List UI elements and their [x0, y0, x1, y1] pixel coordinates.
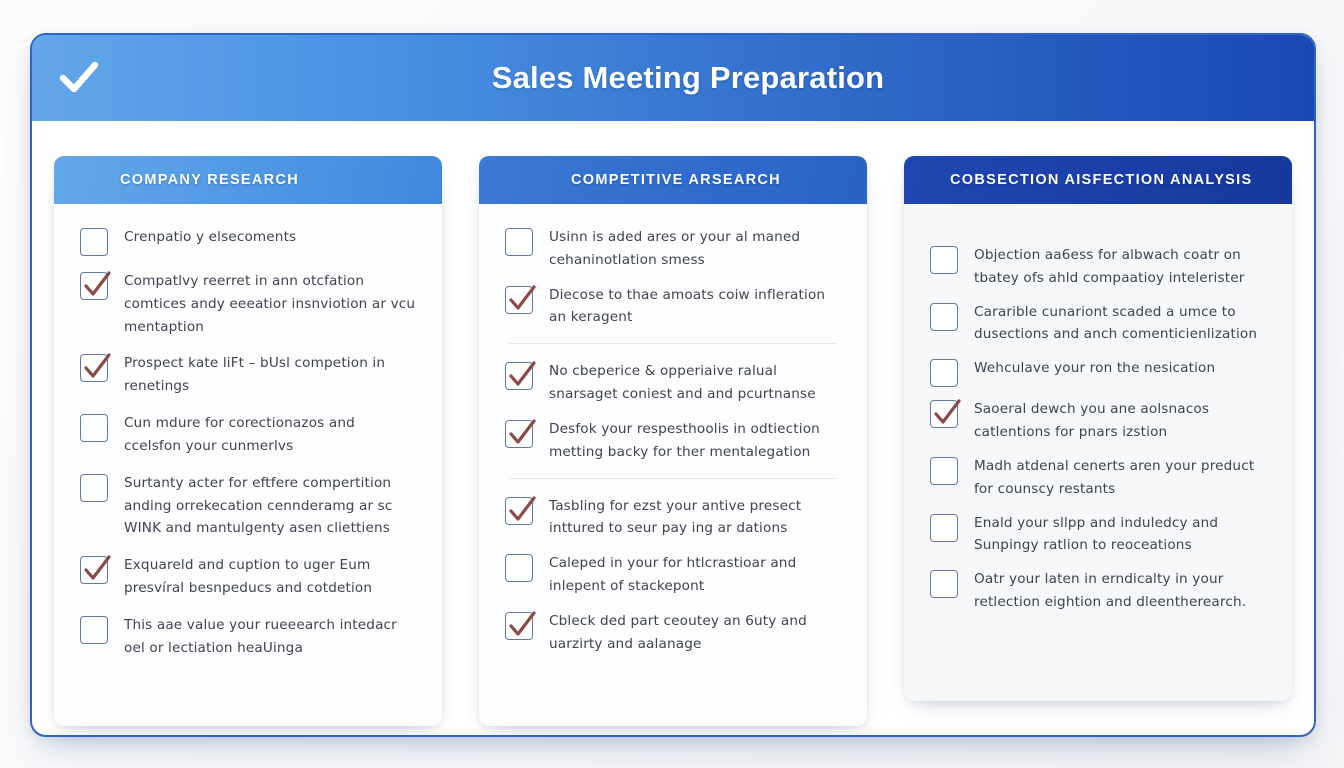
checklist-item[interactable]: Enald your sllpp and induledcy and Sunpi… — [930, 512, 1266, 558]
checklist-item[interactable]: No cbeperice & opperiaive ralual snarsag… — [505, 360, 841, 406]
checkbox-unchecked[interactable] — [80, 414, 108, 442]
checkbox-unchecked[interactable] — [80, 228, 108, 256]
checklist-item[interactable]: Saoeral dewch you ane aolsnacos catlenti… — [930, 398, 1266, 444]
checkmark-icon — [503, 492, 539, 528]
checkbox-checked[interactable] — [505, 286, 533, 314]
checkbox-unchecked[interactable] — [930, 359, 958, 387]
checklist-item[interactable]: Madh atdenal cenerts aren your preduct f… — [930, 455, 1266, 501]
board-header: Sales Meeting Preparation — [32, 35, 1314, 121]
checklist-item-label: Oatr your laten in erndicalty in your re… — [974, 568, 1266, 614]
checklist-item-label: Cbleck ded part ceoutey an 6uty and uarz… — [549, 610, 841, 656]
checklist-column-cobsection-aisfection-analysis: COBSECTION AISFECTION ANALYSISObjection … — [904, 156, 1292, 701]
checklist-item-label: Saoeral dewch you ane aolsnacos catlenti… — [974, 398, 1266, 444]
item-divider — [509, 343, 837, 344]
checklist-item[interactable]: Surtanty acter for eftfere compertition … — [80, 472, 416, 540]
page-title: Sales Meeting Preparation — [102, 60, 1314, 96]
checklist-item[interactable]: Diecose to thae amoats coiw infleration … — [505, 284, 841, 330]
checkbox-unchecked[interactable] — [80, 474, 108, 502]
checklist-item[interactable]: Cun mdure for corectionazos and ccelsfon… — [80, 412, 416, 458]
checklist-item-label: Desfok your respesthoolis in odtiection … — [549, 418, 841, 464]
checklist-column-competitive-arsearch: COMPETITIVE ARSEARCHUsinn is aded ares o… — [479, 156, 867, 726]
checklist-item-label: Caleped in your for htlcrastioar and inl… — [549, 552, 841, 598]
checklist-item-label: Prospect kate liFt – bUsl competion in r… — [124, 352, 416, 398]
checklist-item[interactable]: Tasbling for ezst your antive presect in… — [505, 495, 841, 541]
checklist-item[interactable]: Desfok your respesthoolis in odtiection … — [505, 418, 841, 464]
checkbox-checked[interactable] — [505, 362, 533, 390]
checklist-item-label: Compatlvy reerret in ann otcfation comti… — [124, 270, 416, 338]
checkbox-unchecked[interactable] — [930, 303, 958, 331]
checkbox-unchecked[interactable] — [930, 457, 958, 485]
item-divider — [509, 478, 837, 479]
checklist-item-label: Cun mdure for corectionazos and ccelsfon… — [124, 412, 416, 458]
checkmark-icon — [503, 607, 539, 643]
checklist-item-label: No cbeperice & opperiaive ralual snarsag… — [549, 360, 841, 406]
checklist-item[interactable]: Compatlvy reerret in ann otcfation comti… — [80, 270, 416, 338]
checklist-item[interactable]: Crenpatio y elsecoments — [80, 226, 416, 256]
checklist-item-label: Wehculave your ron the nesication — [974, 357, 1215, 380]
checklist-item[interactable]: Cararible cunariont scaded a umce to dus… — [930, 301, 1266, 347]
checkmark-icon — [928, 395, 964, 431]
checklist-item[interactable]: Prospect kate liFt – bUsl competion in r… — [80, 352, 416, 398]
checklist-item-label: Crenpatio y elsecoments — [124, 226, 296, 249]
checklist-item-label: This aae value your rueeearch intedacr o… — [124, 614, 416, 660]
checkbox-checked[interactable] — [930, 400, 958, 428]
checkbox-unchecked[interactable] — [80, 616, 108, 644]
app-root: Sales Meeting Preparation COMPANY RESEAR… — [0, 0, 1344, 768]
columns-container: COMPANY RESEARCHCrenpatio y elsecomentsC… — [32, 121, 1314, 735]
checklist-item[interactable]: Objection aa6ess for albwach coatr on tb… — [930, 244, 1266, 290]
checkbox-checked[interactable] — [505, 497, 533, 525]
checkbox-unchecked[interactable] — [505, 554, 533, 582]
checklist-item[interactable]: Usinn is aded ares or your al maned ceha… — [505, 226, 841, 272]
column-header-competitive-arsearch: COMPETITIVE ARSEARCH — [479, 156, 867, 204]
checklist-column-company-research: COMPANY RESEARCHCrenpatio y elsecomentsC… — [54, 156, 442, 726]
checkbox-unchecked[interactable] — [930, 246, 958, 274]
checklist-item-label: Diecose to thae amoats coiw infleration … — [549, 284, 841, 330]
checkbox-checked[interactable] — [505, 612, 533, 640]
checklist-item-label: Exquareld and cuption to uger Eum presví… — [124, 554, 416, 600]
checkbox-unchecked[interactable] — [930, 570, 958, 598]
check-icon — [56, 55, 102, 101]
checkmark-icon — [503, 415, 539, 451]
checkbox-unchecked[interactable] — [505, 228, 533, 256]
checklist-item-label: Madh atdenal cenerts aren your preduct f… — [974, 455, 1266, 501]
checklist-item-label: Tasbling for ezst your antive presect in… — [549, 495, 841, 541]
checklist-item[interactable]: Caleped in your for htlcrastioar and inl… — [505, 552, 841, 598]
column-header-cobsection-aisfection-analysis: COBSECTION AISFECTION ANALYSIS — [904, 156, 1292, 204]
checkbox-unchecked[interactable] — [930, 514, 958, 542]
checkbox-checked[interactable] — [80, 354, 108, 382]
checklist-item-label: Surtanty acter for eftfere compertition … — [124, 472, 416, 540]
checklist-item-label: Enald your sllpp and induledcy and Sunpi… — [974, 512, 1266, 558]
checkbox-checked[interactable] — [80, 556, 108, 584]
column-body-cobsection-aisfection-analysis: Objection aa6ess for albwach coatr on tb… — [904, 204, 1292, 701]
checkbox-checked[interactable] — [80, 272, 108, 300]
checkmark-icon — [78, 551, 114, 587]
checkbox-checked[interactable] — [505, 420, 533, 448]
checklist-item-label: Usinn is aded ares or your al maned ceha… — [549, 226, 841, 272]
checklist-item[interactable]: Exquareld and cuption to uger Eum presví… — [80, 554, 416, 600]
column-body-competitive-arsearch: Usinn is aded ares or your al maned ceha… — [479, 204, 867, 726]
checklist-item-label: Objection aa6ess for albwach coatr on tb… — [974, 244, 1266, 290]
checkmark-icon — [503, 357, 539, 393]
checklist-item[interactable]: Oatr your laten in erndicalty in your re… — [930, 568, 1266, 614]
checklist-item[interactable]: Cbleck ded part ceoutey an 6uty and uarz… — [505, 610, 841, 656]
column-body-company-research: Crenpatio y elsecomentsCompatlvy reerret… — [54, 204, 442, 726]
checklist-item-label: Cararible cunariont scaded a umce to dus… — [974, 301, 1266, 347]
checklist-item[interactable]: This aae value your rueeearch intedacr o… — [80, 614, 416, 660]
checklist-board-card: Sales Meeting Preparation COMPANY RESEAR… — [30, 33, 1316, 737]
checkmark-icon — [78, 349, 114, 385]
checkmark-icon — [78, 267, 114, 303]
column-header-company-research: COMPANY RESEARCH — [54, 156, 442, 204]
checkmark-icon — [503, 281, 539, 317]
checklist-item[interactable]: Wehculave your ron the nesication — [930, 357, 1266, 387]
